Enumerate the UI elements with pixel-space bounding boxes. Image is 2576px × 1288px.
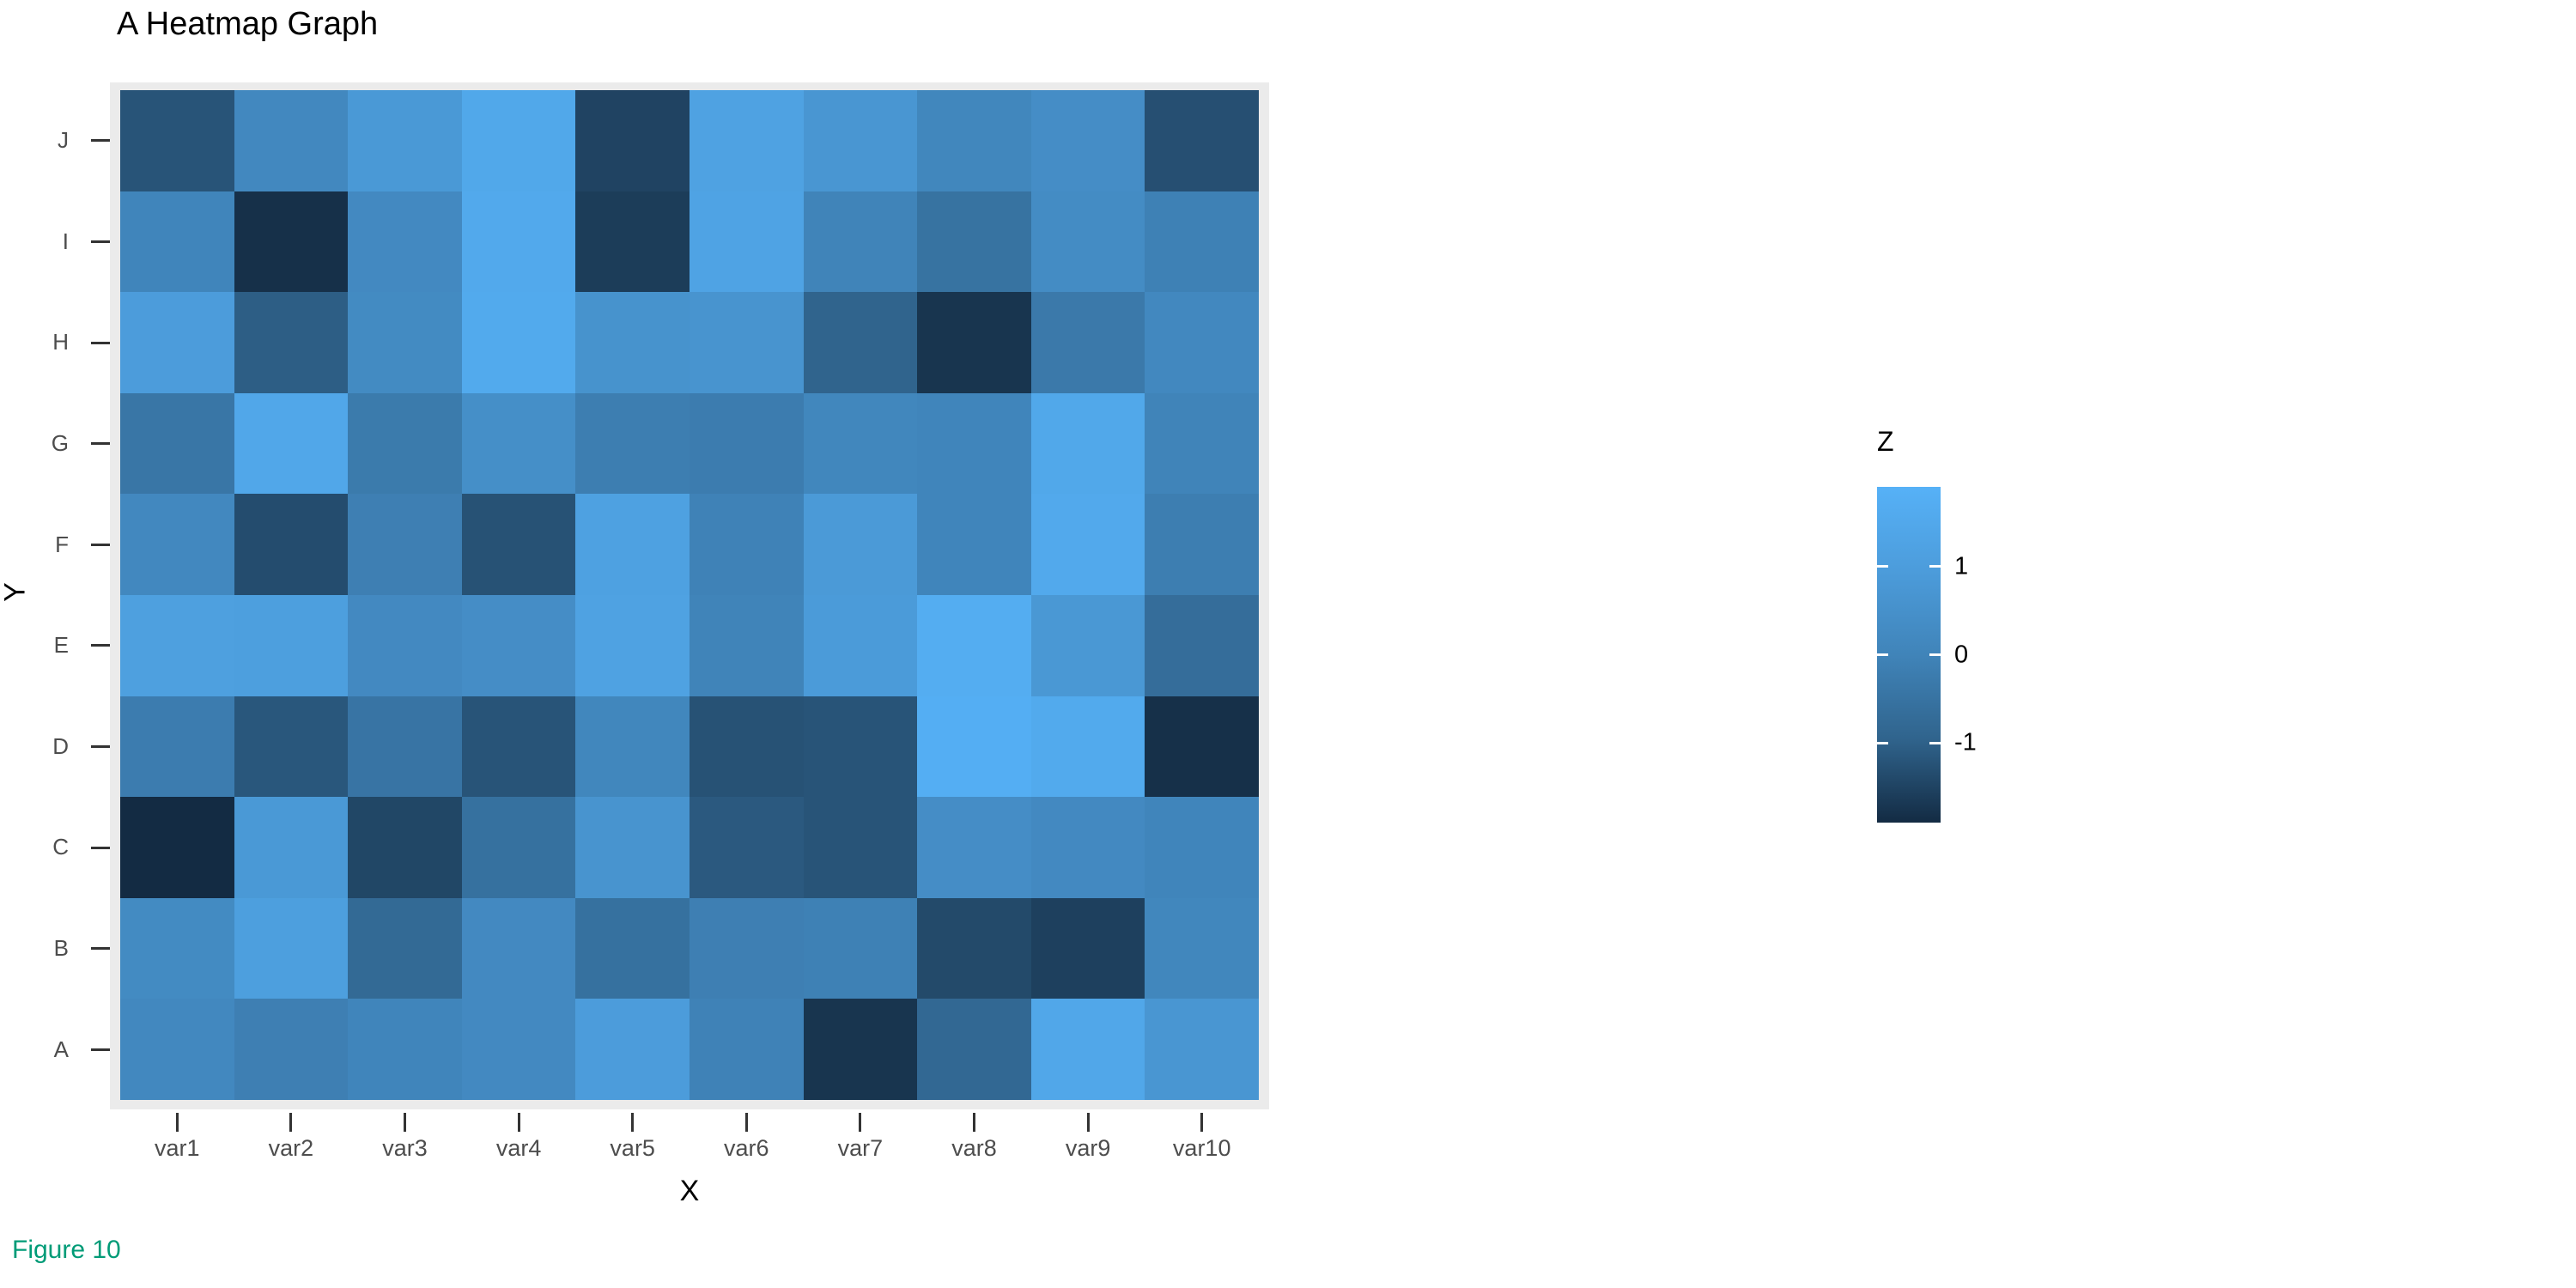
page-title: A Heatmap Graph (117, 5, 378, 43)
y-tick-label: E (54, 632, 74, 659)
heatmap-cell[interactable] (690, 90, 804, 191)
x-tickmark (745, 1113, 748, 1132)
heatmap-cell[interactable] (120, 191, 234, 293)
x-tickmark (518, 1113, 520, 1132)
heatmap-cell[interactable] (234, 191, 349, 293)
y-tick-label: A (54, 1036, 74, 1063)
heatmap-cell[interactable] (690, 696, 804, 798)
heatmap-cell[interactable] (234, 292, 349, 393)
legend-colorbar: 10-1 (1877, 487, 1941, 823)
heatmap-grid (120, 90, 1259, 1100)
y-tick-B: B (0, 898, 74, 999)
heatmap-cell[interactable] (917, 494, 1031, 595)
heatmap-cell[interactable] (690, 494, 804, 595)
heatmap-cell[interactable] (1145, 393, 1259, 495)
heatmap-cell[interactable] (234, 595, 349, 696)
heatmap-cell[interactable] (575, 494, 690, 595)
heatmap-cell[interactable] (462, 595, 576, 696)
heatmap-cell[interactable] (1145, 292, 1259, 393)
heatmap-cell[interactable] (234, 797, 349, 898)
heatmap-cell[interactable] (1145, 595, 1259, 696)
legend-tick-label: 1 (1954, 552, 1968, 580)
y-tick-label: G (52, 430, 74, 457)
heatmap-cell[interactable] (1145, 191, 1259, 293)
heatmap-cell[interactable] (917, 696, 1031, 798)
x-tick-label: var8 (917, 1133, 1031, 1168)
x-tick-label: var1 (120, 1133, 234, 1168)
y-tickmark (91, 1048, 110, 1051)
x-tick-label: var3 (348, 1133, 462, 1168)
legend-tickmark (1877, 653, 1888, 656)
heatmap-cell[interactable] (462, 90, 576, 191)
heatmap-cell[interactable] (1031, 90, 1145, 191)
heatmap-cell[interactable] (575, 191, 690, 293)
heatmap-cell[interactable] (234, 898, 349, 999)
x-tick-label: var10 (1145, 1133, 1259, 1168)
heatmap-cell[interactable] (804, 494, 918, 595)
y-tickmark (91, 442, 110, 445)
figure-container: A Heatmap Graph Y JIHGFEDCBA var1var2var… (0, 0, 2576, 1288)
heatmap-cell[interactable] (1145, 90, 1259, 191)
heatmap-cell[interactable] (575, 898, 690, 999)
y-tick-label: H (52, 329, 74, 355)
heatmap-cell[interactable] (917, 797, 1031, 898)
heatmap-cell[interactable] (690, 898, 804, 999)
heatmap-cell[interactable] (917, 191, 1031, 293)
heatmap-cell[interactable] (575, 696, 690, 798)
y-tickmark (91, 342, 110, 344)
heatmap-cell[interactable] (120, 797, 234, 898)
heatmap-cell[interactable] (462, 191, 576, 293)
y-tickmark (91, 139, 110, 142)
heatmap-cell[interactable] (1031, 797, 1145, 898)
figure-caption: Figure 10 (12, 1235, 121, 1266)
heatmap-cell[interactable] (690, 191, 804, 293)
y-tick-A: A (0, 999, 74, 1100)
heatmap-cell[interactable] (462, 393, 576, 495)
heatmap-cell[interactable] (804, 90, 918, 191)
y-tick-label: I (63, 228, 74, 255)
heatmap-cell[interactable] (1031, 191, 1145, 293)
heatmap-cell[interactable] (575, 999, 690, 1100)
heatmap-cell[interactable] (1145, 999, 1259, 1100)
y-tickmark (91, 644, 110, 647)
heatmap-cell[interactable] (234, 696, 349, 798)
y-tick-F: F (0, 494, 74, 595)
heatmap-cell[interactable] (690, 595, 804, 696)
x-tickmark (1087, 1113, 1090, 1132)
heatmap-cell[interactable] (804, 999, 918, 1100)
heatmap-cell[interactable] (1031, 292, 1145, 393)
heatmap-cell[interactable] (1031, 595, 1145, 696)
x-axis-ticklabels: var1var2var3var4var5var6var7var8var9var1… (120, 1133, 1259, 1168)
heatmap-cell[interactable] (917, 90, 1031, 191)
heatmap-cell[interactable] (1031, 494, 1145, 595)
y-tick-label: J (58, 127, 74, 154)
y-tickmark (91, 544, 110, 546)
heatmap-cell[interactable] (804, 595, 918, 696)
y-tick-label: C (52, 834, 74, 860)
heatmap-cell[interactable] (348, 292, 462, 393)
heatmap-cell[interactable] (120, 292, 234, 393)
x-tickmark (404, 1113, 406, 1132)
heatmap-cell[interactable] (348, 90, 462, 191)
x-axis-tickmarks (120, 1109, 1259, 1132)
heatmap-cell[interactable] (1145, 898, 1259, 999)
x-tickmark (631, 1113, 634, 1132)
heatmap-cell[interactable] (234, 494, 349, 595)
heatmap-cell[interactable] (575, 595, 690, 696)
heatmap-cell[interactable] (917, 393, 1031, 495)
heatmap-cell[interactable] (120, 696, 234, 798)
x-tickmark (289, 1113, 292, 1132)
heatmap-cell[interactable] (348, 494, 462, 595)
heatmap-cell[interactable] (1031, 393, 1145, 495)
heatmap-cell[interactable] (1031, 999, 1145, 1100)
heatmap-cell[interactable] (804, 393, 918, 495)
y-tick-label: F (55, 532, 74, 558)
y-tick-label: D (52, 733, 74, 760)
heatmap-cell[interactable] (234, 393, 349, 495)
x-tickmark (973, 1113, 975, 1132)
x-tick-label: var4 (462, 1133, 576, 1168)
heatmap-cell[interactable] (1145, 797, 1259, 898)
heatmap-cell[interactable] (1031, 696, 1145, 798)
heatmap-cell[interactable] (1145, 494, 1259, 595)
x-tickmark (859, 1113, 861, 1132)
x-tick-label: var7 (804, 1133, 918, 1168)
heatmap-cell[interactable] (348, 595, 462, 696)
heatmap-cell[interactable] (120, 999, 234, 1100)
heatmap-cell[interactable] (917, 595, 1031, 696)
y-tickmark (91, 847, 110, 849)
heatmap-cell[interactable] (804, 696, 918, 798)
legend-tick-label: -1 (1954, 729, 1977, 757)
y-tick-D: D (0, 696, 74, 798)
y-tick-C: C (0, 797, 74, 898)
heatmap-cell[interactable] (120, 90, 234, 191)
heatmap-cell[interactable] (575, 292, 690, 393)
heatmap-cell[interactable] (690, 999, 804, 1100)
heatmap-cell[interactable] (804, 797, 918, 898)
heatmap-cell[interactable] (690, 797, 804, 898)
y-axis-ticklabels: JIHGFEDCBA (0, 90, 74, 1100)
heatmap-cell[interactable] (120, 494, 234, 595)
heatmap-cell[interactable] (917, 999, 1031, 1100)
heatmap-cell[interactable] (1145, 696, 1259, 798)
heatmap-cell[interactable] (462, 292, 576, 393)
y-tick-I: I (0, 191, 74, 293)
x-tick-label: var9 (1031, 1133, 1145, 1168)
heatmap-cell[interactable] (348, 898, 462, 999)
heatmap-cell[interactable] (462, 797, 576, 898)
heatmap-cell[interactable] (575, 393, 690, 495)
heatmap-cell[interactable] (234, 90, 349, 191)
heatmap-cell[interactable] (120, 393, 234, 495)
heatmap-cell[interactable] (462, 696, 576, 798)
legend-tickmark (1877, 565, 1888, 568)
heatmap-cell[interactable] (804, 191, 918, 293)
heatmap-cell[interactable] (234, 999, 349, 1100)
legend-tickmark (1929, 565, 1941, 568)
x-tick-label: var2 (234, 1133, 349, 1168)
y-tick-H: H (0, 292, 74, 393)
legend-tickmark (1929, 653, 1941, 656)
legend-tickmark (1929, 742, 1941, 744)
heatmap-cell[interactable] (804, 292, 918, 393)
heatmap-cell[interactable] (917, 898, 1031, 999)
plot-panel (110, 82, 1269, 1109)
heatmap-cell[interactable] (120, 595, 234, 696)
x-tickmark (176, 1113, 179, 1132)
heatmap-cell[interactable] (348, 999, 462, 1100)
heatmap-cell[interactable] (917, 292, 1031, 393)
heatmap-cell[interactable] (462, 898, 576, 999)
y-tick-J: J (0, 90, 74, 191)
x-axis-title: X (110, 1175, 1269, 1208)
x-tickmark (1200, 1113, 1203, 1132)
heatmap-cell[interactable] (120, 898, 234, 999)
y-tick-G: G (0, 393, 74, 495)
y-axis-tickmarks (79, 90, 110, 1100)
y-tickmark (91, 240, 110, 243)
x-tick-label: var5 (575, 1133, 690, 1168)
y-tickmark (91, 947, 110, 950)
heatmap-cell[interactable] (462, 999, 576, 1100)
heatmap-cell[interactable] (1031, 898, 1145, 999)
heatmap-cell[interactable] (690, 292, 804, 393)
legend-tickmark (1877, 742, 1888, 744)
x-tick-label: var6 (690, 1133, 804, 1168)
legend-title: Z (1877, 425, 1894, 458)
heatmap-cell[interactable] (348, 191, 462, 293)
y-tick-E: E (0, 595, 74, 696)
heatmap-cell[interactable] (462, 494, 576, 595)
heatmap-cell[interactable] (348, 696, 462, 798)
heatmap-cell[interactable] (348, 393, 462, 495)
legend-tick-label: 0 (1954, 641, 1968, 669)
heatmap-cell[interactable] (575, 90, 690, 191)
heatmap-cell[interactable] (804, 898, 918, 999)
y-tickmark (91, 745, 110, 748)
heatmap-cell[interactable] (690, 393, 804, 495)
heatmap-cell[interactable] (348, 797, 462, 898)
y-tick-label: B (54, 935, 74, 962)
heatmap-cell[interactable] (575, 797, 690, 898)
